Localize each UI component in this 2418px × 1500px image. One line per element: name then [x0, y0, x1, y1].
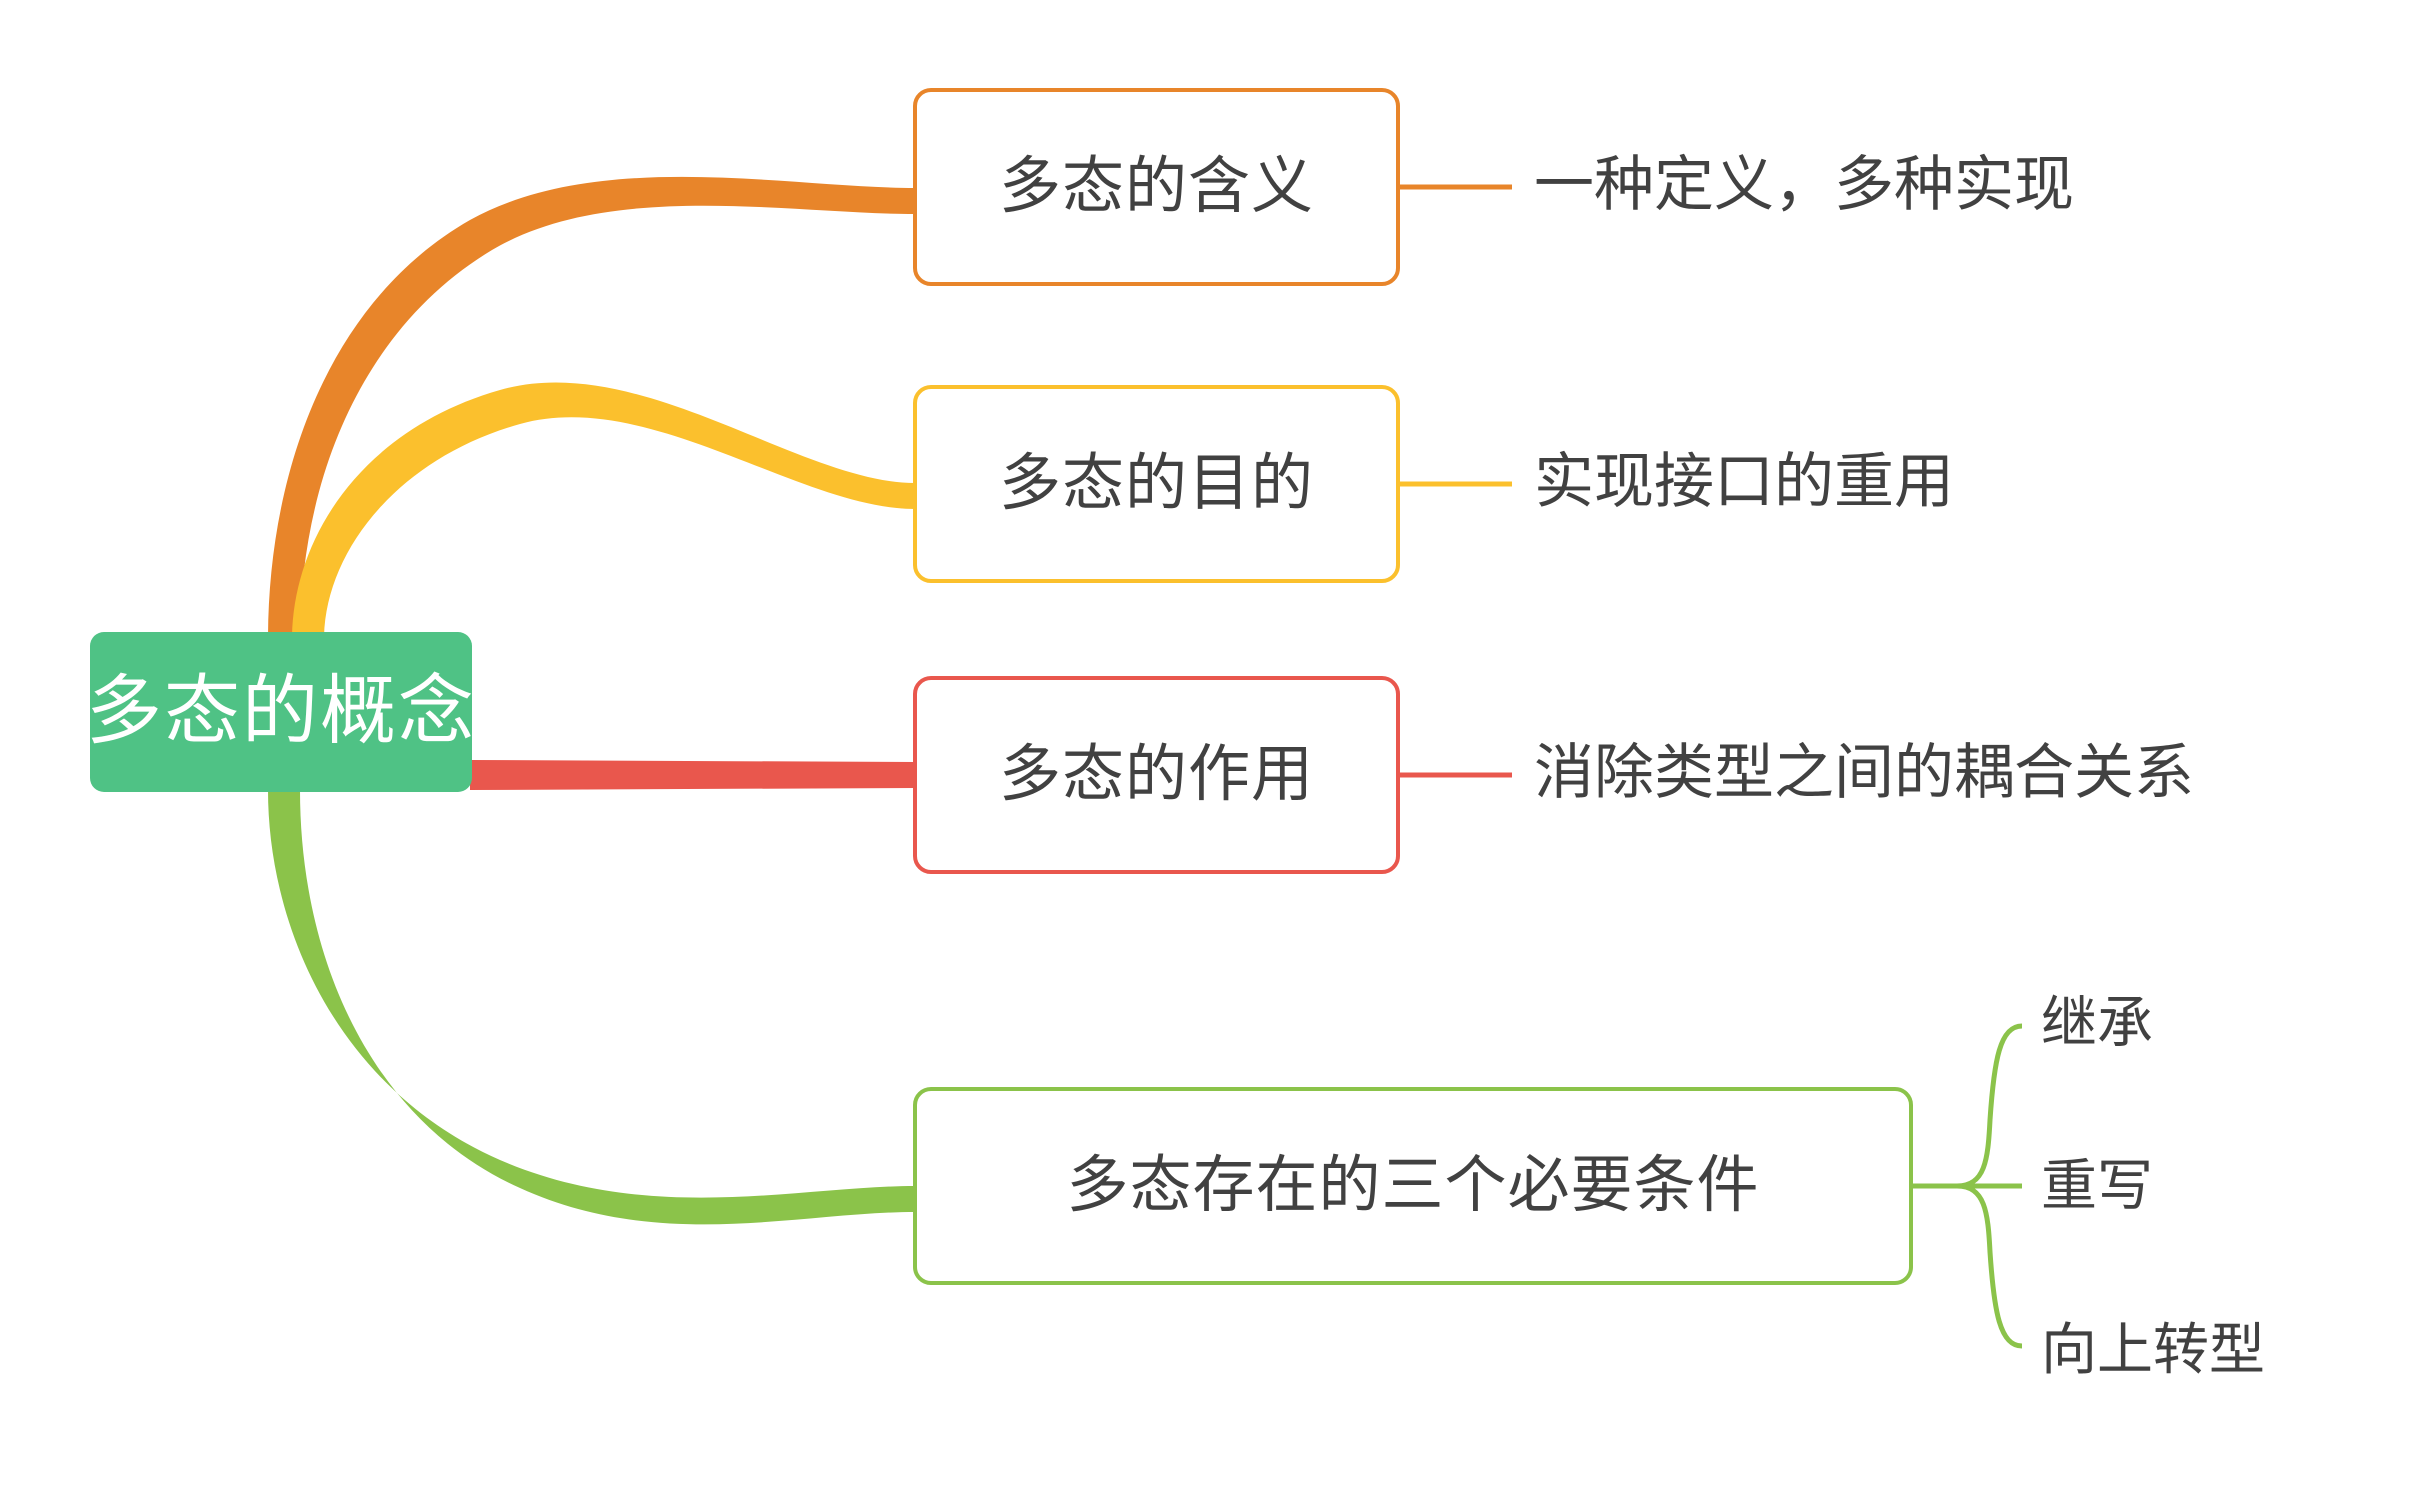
- branch-connector-red: [470, 760, 915, 790]
- branch-node-label: 多态的作用: [999, 744, 1314, 806]
- mindmap-canvas: 多态的概念 多态的含义 多态的目的 多态的作用 多态存在的三个必要条件 一种定义…: [0, 0, 2418, 1500]
- branch-node-purpose[interactable]: 多态的目的: [913, 385, 1400, 583]
- branch-connector-orange: [268, 177, 915, 640]
- leaf-label-remove-coupling[interactable]: 消除类型之间的耦合关系: [1534, 743, 2194, 803]
- branch-node-effect[interactable]: 多态的作用: [913, 676, 1400, 874]
- subleaf-connector-upcast: [1957, 1186, 2022, 1346]
- root-node-label: 多态的概念: [86, 674, 476, 750]
- branch-node-label: 多态的目的: [999, 453, 1314, 515]
- leaf-label-inheritance[interactable]: 继承: [2041, 995, 2153, 1051]
- leaf-label-override[interactable]: 重写: [2041, 1158, 2153, 1214]
- leaf-label-interface-reuse[interactable]: 实现接口的重用: [1534, 452, 1954, 512]
- branch-node-conditions[interactable]: 多态存在的三个必要条件: [913, 1087, 1913, 1285]
- branch-node-label: 多态的含义: [999, 156, 1314, 218]
- leaf-label-upcasting[interactable]: 向上转型: [2041, 1322, 2265, 1378]
- leaf-label-one-definition-many-implementations[interactable]: 一种定义，多种实现: [1534, 155, 2074, 215]
- branch-node-meaning[interactable]: 多态的含义: [913, 88, 1400, 286]
- subleaf-connector-inherit: [1957, 1026, 2022, 1186]
- branch-connector-yellow: [292, 382, 915, 640]
- branch-node-label: 多态存在的三个必要条件: [1066, 1155, 1759, 1217]
- branch-connector-green: [268, 790, 915, 1224]
- root-node[interactable]: 多态的概念: [90, 632, 472, 792]
